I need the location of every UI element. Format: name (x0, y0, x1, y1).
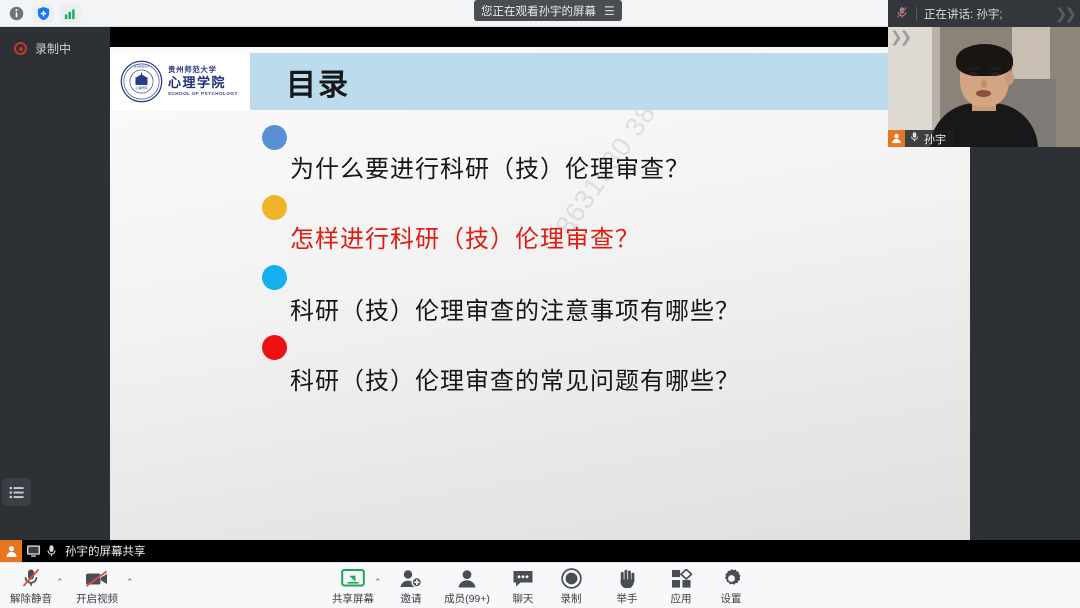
slide-header: 心理学院 贵州师范大学 贵州师范大学 心理学院 SCHOOL OF PSYCHO… (110, 53, 970, 110)
speaker-divider (916, 7, 917, 21)
panel-collapse-chevrons-icon[interactable]: ❯❯ (1055, 5, 1074, 23)
unmute-label: 解除静音 (10, 591, 52, 606)
left-rail: 录制中 (0, 27, 110, 540)
active-speaker-bar: 正在讲话: 孙宇; ❯❯ (888, 0, 1080, 27)
self-video-name: 孙宇 (924, 131, 946, 147)
list-item: 怎样进行科研（技）伦理审查？ (110, 189, 970, 259)
mic-muted-icon (20, 567, 42, 589)
video-expand-chevrons-icon[interactable]: ❯❯ (890, 28, 909, 46)
participants-label: 成员(99+) (444, 591, 490, 606)
logo-university-name: 贵州师范大学 (168, 66, 238, 74)
share-screen-icon (341, 567, 365, 589)
unmute-button[interactable]: 解除静音 (0, 567, 62, 606)
meeting-toolbar: 解除静音 ⌃ 开启视频 ⌃ 共享屏幕 ⌃ 邀请 成员(9 (0, 562, 1080, 608)
apps-grid-icon (671, 567, 692, 589)
record-circle-icon (561, 567, 582, 589)
screen-share-status-bar: 孙宇的屏幕共享 (0, 540, 1080, 562)
presentation-slide: +8631930 3890 心理学院 贵州师范大学 贵州师范大学 (110, 47, 970, 540)
person-icon (888, 130, 905, 147)
invite-label: 邀请 (401, 591, 422, 606)
person-icon (456, 567, 478, 589)
bullet-text: 怎样进行科研（技）伦理审查？ (290, 219, 640, 254)
bullet-text: 科研（技）伦理审查的注意事项有哪些？ (290, 291, 740, 326)
meeting-window: 您正在观看孙宇的屏幕 ☰ 正在讲话: 孙宇; ❯❯ 录制中 +863193 (0, 0, 1080, 608)
slide-bullet-list: 为什么要进行科研（技）伦理审查？ 怎样进行科研（技）伦理审查？ 科研（技）伦理审… (110, 119, 970, 399)
settings-button[interactable]: 设置 (700, 567, 762, 606)
logo-english-name: SCHOOL OF PSYCHOLOGY (168, 92, 238, 97)
bullet-dot-icon (262, 335, 287, 360)
record-label: 录制 (561, 591, 582, 606)
recording-indicator: 录制中 (14, 40, 71, 57)
mic-muted-icon (895, 5, 909, 23)
self-video-panel[interactable]: ❯❯ 孙宇 (888, 27, 1080, 147)
record-dot-icon (14, 42, 27, 55)
slide-title-band: 目录 (250, 53, 970, 110)
mic-options-caret-icon[interactable]: ⌃ (56, 577, 64, 588)
participants-list-toggle[interactable] (2, 478, 31, 506)
gear-icon (721, 567, 742, 589)
start-video-label: 开启视频 (76, 591, 118, 606)
shield-add-icon[interactable] (33, 4, 54, 23)
logo-school-name: 心理学院 (168, 76, 238, 89)
start-video-button[interactable]: 开启视频 (66, 567, 128, 606)
list-item: 科研（技）伦理审查的常见问题有哪些？ (110, 329, 970, 399)
svg-text:贵州师范大学: 贵州师范大学 (134, 64, 150, 68)
info-icon[interactable] (6, 4, 27, 23)
apps-label: 应用 (671, 591, 692, 606)
viewing-menu-icon[interactable]: ☰ (604, 5, 615, 17)
slide-title: 目录 (286, 60, 350, 104)
bullet-dot-icon (262, 195, 287, 220)
chat-label: 聊天 (513, 591, 534, 606)
share-screen-label: 共享屏幕 (332, 591, 374, 606)
signal-bars-icon[interactable] (60, 4, 81, 23)
screen-share-label: 孙宇的屏幕共享 (65, 543, 146, 559)
list-item: 为什么要进行科研（技）伦理审查？ (110, 119, 970, 189)
svg-text:心理学院: 心理学院 (135, 85, 147, 90)
raise-hand-button[interactable]: 举手 (596, 567, 658, 606)
chat-bubble-icon (512, 567, 534, 589)
mic-icon (45, 544, 58, 558)
settings-label: 设置 (721, 591, 742, 606)
viewing-screen-notice: 您正在观看孙宇的屏幕 ☰ (474, 0, 622, 21)
bullet-dot-icon (262, 265, 287, 290)
person-icon (0, 540, 22, 562)
camera-off-icon (84, 567, 110, 589)
bullet-text: 为什么要进行科研（技）伦理审查？ (290, 149, 690, 184)
person-add-icon (399, 567, 423, 589)
university-seal-icon: 心理学院 贵州师范大学 (120, 60, 163, 103)
screen-share-icon (26, 544, 41, 558)
university-logo: 心理学院 贵州师范大学 贵州师范大学 心理学院 SCHOOL OF PSYCHO… (110, 53, 250, 110)
video-options-caret-icon[interactable]: ⌃ (126, 577, 134, 588)
participants-button[interactable]: 成员(99+) (436, 567, 498, 606)
list-item: 科研（技）伦理审查的注意事项有哪些？ (110, 259, 970, 329)
video-name-bar: 孙宇 (888, 130, 954, 147)
raise-hand-label: 举手 (617, 591, 638, 606)
mic-icon (909, 130, 920, 148)
top-icon-group (0, 4, 81, 23)
active-speaker-label: 正在讲话: 孙宇; (924, 6, 1003, 22)
invite-button[interactable]: 邀请 (380, 567, 442, 606)
viewing-screen-label: 您正在观看孙宇的屏幕 (481, 3, 596, 19)
record-button[interactable]: 录制 (540, 567, 602, 606)
recording-label: 录制中 (35, 40, 71, 57)
hand-icon (617, 567, 638, 589)
bullet-text: 科研（技）伦理审查的常见问题有哪些？ (290, 361, 740, 396)
bullet-dot-icon (262, 125, 287, 150)
